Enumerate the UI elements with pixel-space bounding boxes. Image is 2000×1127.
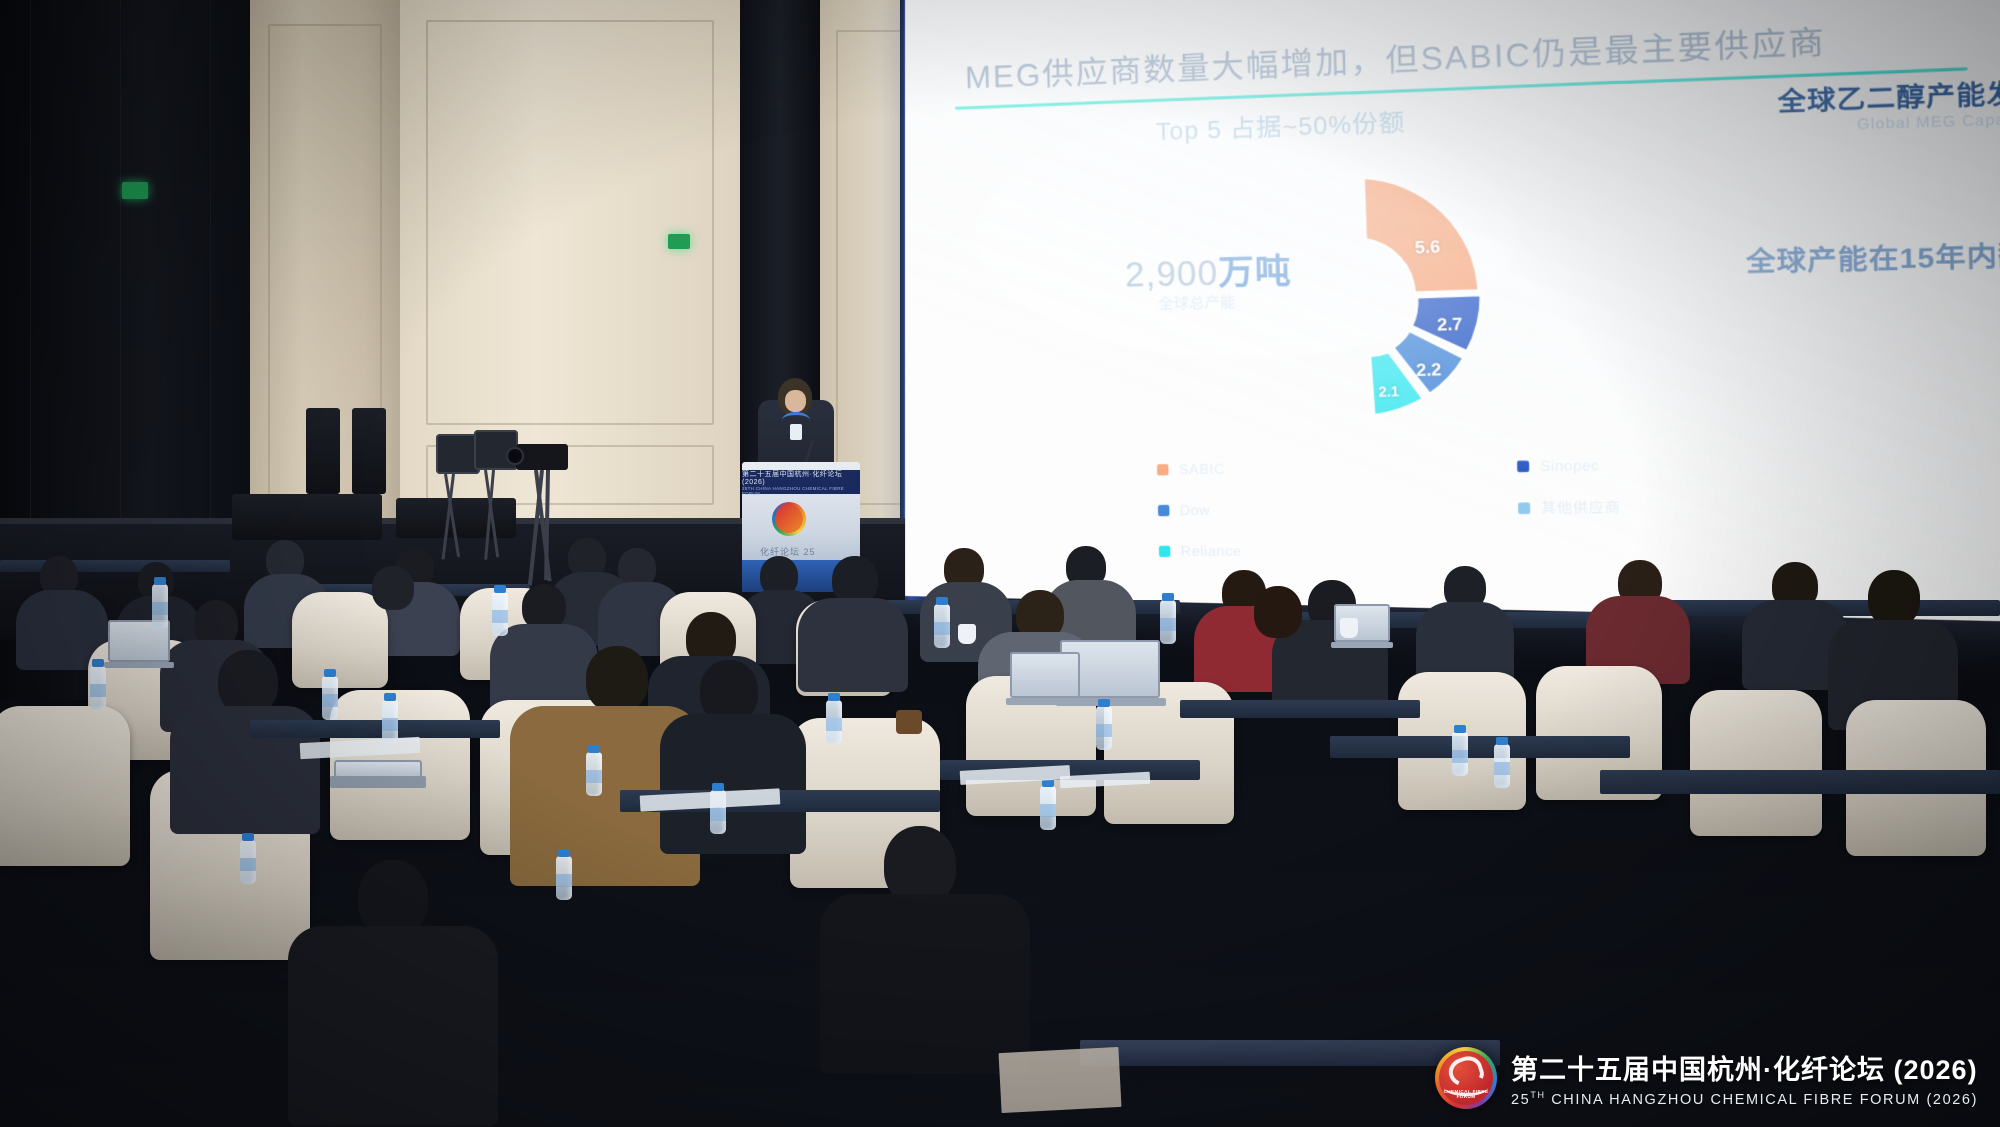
pa-speaker [306, 408, 340, 494]
donut-svg [1204, 133, 1567, 456]
legend-label: Reliance [1180, 542, 1241, 559]
chart-legend: SABIC Sinopec Dow 其他供应商 Reliance [1157, 454, 1831, 559]
donut-label-0: 5.6 [1415, 237, 1441, 259]
laptop [330, 760, 426, 792]
donut-label-2: 2.2 [1416, 360, 1442, 382]
coffee-cup [958, 624, 976, 644]
audience-table [1600, 770, 2000, 794]
legend-swatch-icon [1518, 502, 1530, 514]
audience-head [358, 860, 428, 936]
chair [292, 592, 388, 688]
camera-lens-icon [508, 449, 522, 463]
water-bottle [826, 700, 842, 744]
audience-head [372, 566, 414, 610]
center-unit: 万吨 [1218, 252, 1292, 293]
donut-slice-0 [1363, 173, 1479, 295]
podium-banner-en: 25TH CHINA HANGZHOU CHEMICAL FIBRE FORUM [742, 486, 860, 496]
donut-label-1: 2.7 [1437, 314, 1463, 336]
donut-center-caption: 全球总产能 [1158, 291, 1236, 314]
water-bottle [322, 676, 338, 720]
exit-sign-icon [668, 234, 690, 249]
forum-title-en-sup: TH [1530, 1090, 1545, 1100]
water-bottle [240, 840, 256, 884]
water-bottle [934, 604, 950, 648]
forum-title-en-num: 25 [1511, 1092, 1530, 1108]
water-bottle [1040, 786, 1056, 830]
audience-head [832, 556, 878, 604]
chair [0, 706, 130, 866]
audience-torso [288, 926, 498, 1126]
donut-chart: 5.6 2.7 2.2 2.1 [1204, 133, 1567, 456]
conference-photo: MEG供应商数量大幅增加，但SABIC仍是最主要供应商 全球乙二醇产能发展 Gl… [0, 0, 2000, 1127]
presentation-slide: MEG供应商数量大幅增加，但SABIC仍是最主要供应商 全球乙二醇产能发展 Gl… [905, 0, 2000, 623]
center-number: 2,900 [1125, 254, 1219, 295]
podium-banner: 第二十五届中国杭州·化纤论坛 (2026) 25TH CHINA HANGZHO… [742, 470, 860, 494]
water-bottle [90, 666, 106, 710]
water-bottle [1160, 600, 1176, 644]
legend-label: Sinopec [1540, 457, 1600, 474]
legend-item: SABIC [1157, 458, 1452, 477]
water-bottle [1452, 732, 1468, 776]
podium-logo-icon [772, 502, 806, 536]
pa-speaker [352, 408, 386, 494]
forum-logo-ring-text: CHEMICAL FIBRE FORUM [1442, 1089, 1490, 1100]
audience-head [218, 650, 278, 714]
audience-head [1868, 570, 1920, 626]
video-camera [516, 444, 568, 470]
audience-torso [820, 894, 1030, 1074]
name-badge [790, 424, 802, 440]
audience-head [700, 660, 758, 722]
speaker-face [785, 390, 806, 412]
road-case [232, 494, 382, 540]
legend-item: Dow [1158, 498, 1454, 520]
laptop [1010, 652, 1080, 708]
audience-torso [660, 714, 806, 854]
slide-callout: 全球产能在15年内翻倍 [1746, 233, 2000, 280]
audience-head [1254, 586, 1302, 638]
audience-head [884, 826, 956, 904]
legend-item: Sinopec [1517, 454, 1829, 474]
legend-item: Reliance [1159, 542, 1455, 559]
audience-table [0, 560, 230, 572]
audience-table [1180, 700, 1420, 718]
forum-title-cn: 第二十五届中国杭州·化纤论坛 (2026) [1511, 1048, 1978, 1087]
forum-title-en: 25TH CHINA HANGZHOU CHEMICAL FIBRE FORUM… [1511, 1090, 1978, 1108]
donut-label-3: 2.1 [1378, 383, 1399, 400]
legend-swatch-icon [1159, 545, 1171, 556]
legend-swatch-icon [1158, 504, 1170, 515]
water-bottle [586, 752, 602, 796]
legend-swatch-icon [1157, 464, 1169, 475]
audience-head [586, 646, 648, 712]
podium-mark: 化纤论坛 25 [760, 545, 816, 558]
water-bottle [492, 592, 508, 636]
forum-title-en-rest: CHINA HANGZHOU CHEMICAL FIBRE FORUM (202… [1551, 1092, 1978, 1108]
water-bottle [1494, 744, 1510, 788]
water-bottle [556, 856, 572, 900]
coffee-cup [1340, 618, 1358, 638]
audience-table [250, 720, 500, 738]
water-bottle [152, 584, 168, 628]
projection-screen: MEG供应商数量大幅增加，但SABIC仍是最主要供应商 全球乙二醇产能发展 Gl… [905, 0, 2000, 623]
audience-table [1330, 736, 1630, 758]
legend-label: 其他供应商 [1541, 497, 1621, 519]
forum-watermark-text: 第二十五届中国杭州·化纤论坛 (2026) 25TH CHINA HANGZHO… [1511, 1048, 1978, 1108]
audience-torso [798, 598, 908, 692]
legend-swatch-icon [1517, 460, 1529, 472]
podium-banner-cn: 第二十五届中国杭州·化纤论坛 (2026) [742, 469, 860, 486]
legend-item: 其他供应商 [1518, 495, 1830, 518]
exit-sign-icon [122, 182, 148, 199]
legend-label: SABIC [1179, 460, 1226, 477]
legend-label: Dow [1180, 502, 1211, 519]
coffee-cup [896, 710, 922, 734]
forum-watermark: CHEMICAL FIBRE FORUM 第二十五届中国杭州·化纤论坛 (202… [1435, 1047, 1978, 1109]
chair [1690, 690, 1822, 836]
paper-handout [999, 1047, 1122, 1113]
forum-logo-icon: CHEMICAL FIBRE FORUM [1435, 1047, 1497, 1109]
water-bottle [1096, 706, 1112, 750]
donut-center-value: 2,900万吨 [1124, 243, 1291, 297]
